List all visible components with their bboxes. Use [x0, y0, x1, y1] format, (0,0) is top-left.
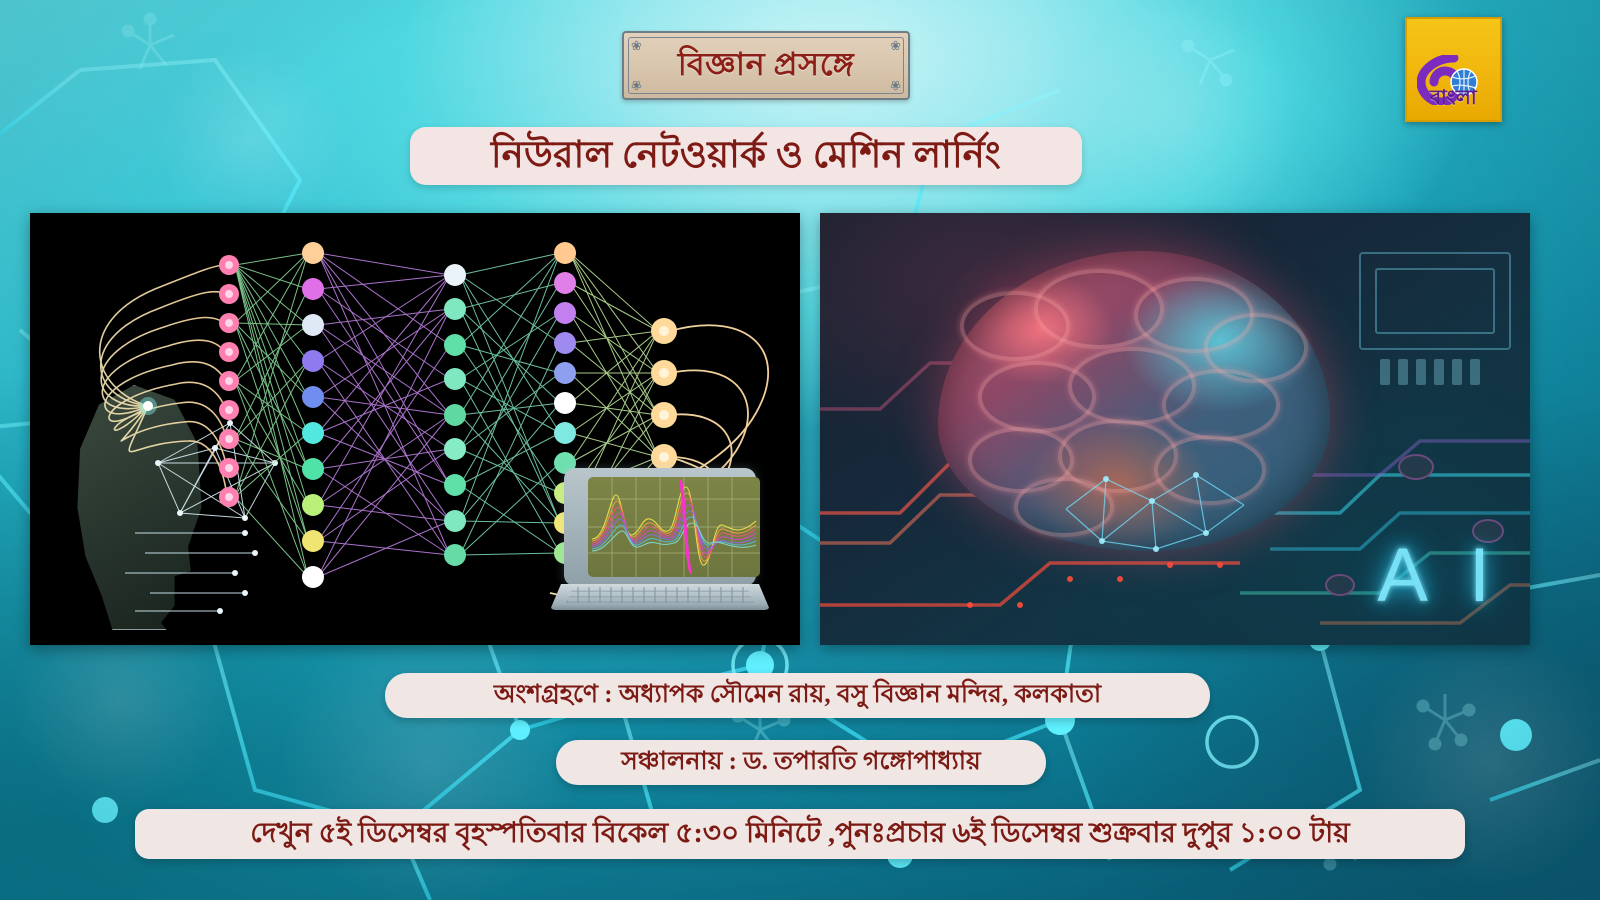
ai-overlay-text: A I: [1377, 532, 1502, 619]
neural-network-illustration: [30, 213, 800, 645]
program-banner-label: বিজ্ঞান প্রসঙ্গে: [624, 33, 908, 98]
laptop-lid: [564, 468, 756, 586]
brain-neural-overlay: [1056, 449, 1256, 569]
hidden-layer-2-nodes: [444, 264, 466, 566]
host-pill: সঞ্চালনায় : ড. তপারতি গঙ্গোপাধ্যায়: [556, 740, 1046, 785]
program-banner: ❀ ❀ ❀ ❀ বিজ্ঞান প্রসঙ্গে: [622, 31, 910, 100]
laptop-screen: [588, 477, 760, 577]
schedule-text: দেখুন ৫ই ডিসেম্বর বৃহস্পতিবার বিকেল ৫:৩০…: [250, 811, 1349, 858]
participant-text: অংশগ্রহণে : অধ্যাপক সৌমেন রায়, বসু বিজ্…: [494, 674, 1101, 717]
participant-pill: অংশগ্রহণে : অধ্যাপক সৌমেন রায়, বসু বিজ্…: [385, 673, 1210, 718]
logo-wordmark: বাংলা: [1407, 83, 1500, 116]
broadcast-promo-stage: বাংলা ❀ ❀ ❀ ❀ বিজ্ঞান প্রসঙ্গে নিউরাল নে…: [0, 0, 1600, 900]
laptop-keyboard: [566, 587, 754, 603]
dd-bangla-logo[interactable]: বাংলা: [1405, 17, 1502, 122]
page-title: নিউরাল নেটওয়ার্ক ও মেশিন লার্নিং: [491, 125, 1001, 188]
schedule-pill: দেখুন ৫ই ডিসেম্বর বৃহস্পতিবার বিকেল ৫:৩০…: [135, 809, 1465, 859]
input-layer-nodes: [219, 255, 239, 507]
episode-title-pill: নিউরাল নেটওয়ার্ক ও মেশিন লার্নিং: [410, 127, 1082, 185]
output-layer-nodes: [651, 318, 677, 470]
host-text: সঞ্চালনায় : ড. তপারতি গঙ্গোপাধ্যায়: [621, 741, 980, 784]
laptop-waveform-plot: [550, 468, 770, 618]
hidden-layer-1-nodes: [302, 242, 324, 588]
brain-circuit-board-image: A I: [820, 213, 1530, 645]
